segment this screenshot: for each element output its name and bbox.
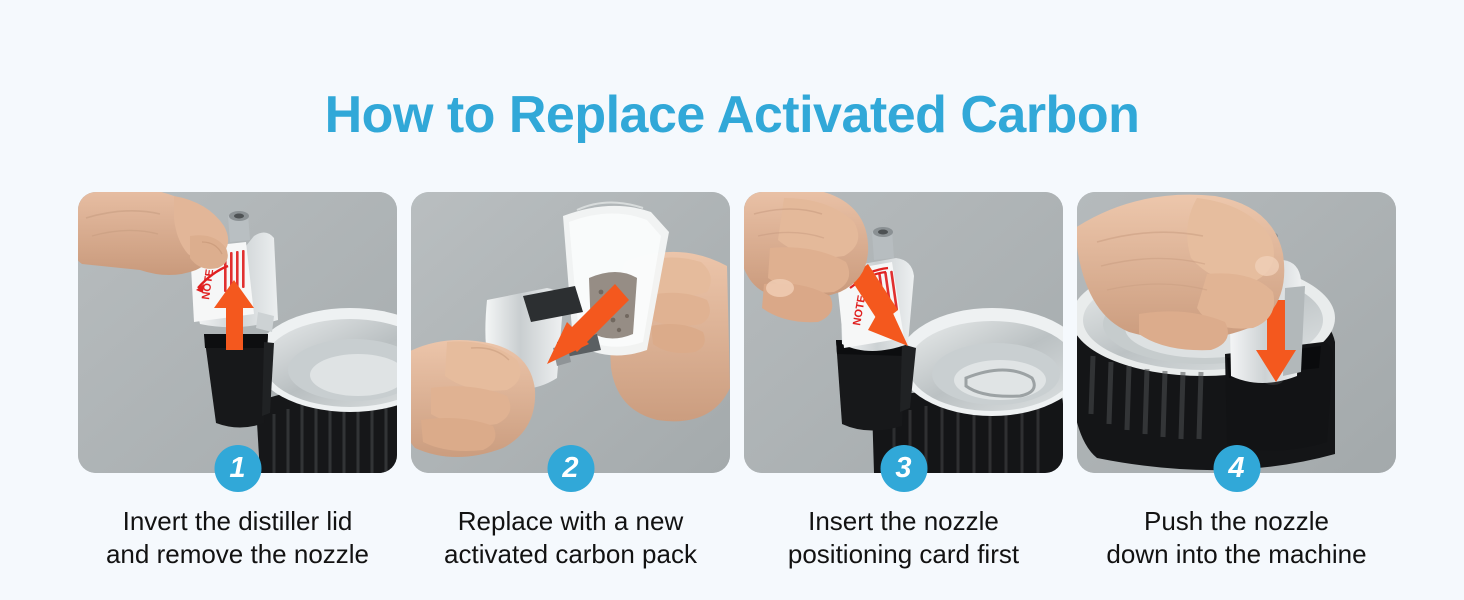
step-card-4: 4 Push the nozzle down into the machine	[1077, 192, 1396, 571]
step-photo-4	[1077, 192, 1396, 473]
step-badge-1: 1	[214, 445, 261, 492]
page-title: How to Replace Activated Carbon	[0, 84, 1464, 146]
step-card-1: NOTE 1 Invert the distill	[78, 192, 397, 571]
step-badge-3: 3	[880, 445, 927, 492]
step-caption-2: Replace with a new activated carbon pack	[411, 505, 730, 571]
step-photo-1: NOTE	[78, 192, 397, 473]
step-badge-4: 4	[1213, 445, 1260, 492]
step-caption-1: Invert the distiller lid and remove the …	[78, 505, 397, 571]
step-caption-3: Insert the nozzle positioning card first	[744, 505, 1063, 571]
step-photo-3: NOTE	[744, 192, 1063, 473]
steps-grid: NOTE 1 Invert the distill	[78, 192, 1386, 571]
step-photo-2	[411, 192, 730, 473]
step-card-3: NOTE 3 Insert the nozzle	[744, 192, 1063, 571]
step-badge-2: 2	[547, 445, 594, 492]
step-card-2: 2 Replace with a new activated carbon pa…	[411, 192, 730, 571]
step-caption-4: Push the nozzle down into the machine	[1077, 505, 1396, 571]
